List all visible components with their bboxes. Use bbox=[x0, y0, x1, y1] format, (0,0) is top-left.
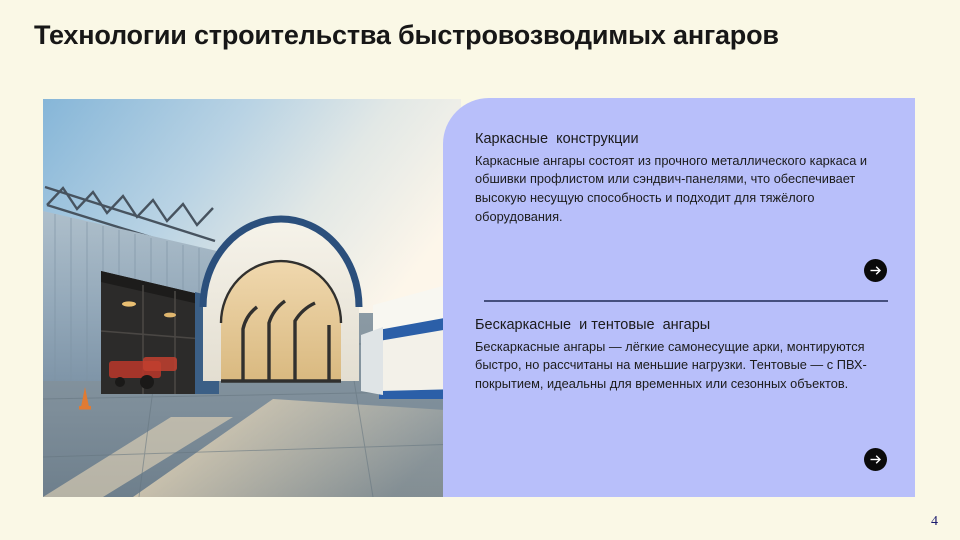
section-divider bbox=[484, 300, 888, 302]
block-body: Бескаркасные ангары — лёгкие самонесущие… bbox=[475, 338, 887, 394]
arrow-right-icon-2[interactable] bbox=[864, 448, 887, 471]
arrow-right-icon bbox=[869, 453, 882, 466]
block-body: Каркасные ангары состоят из прочного мет… bbox=[475, 152, 887, 227]
block-heading: Каркасные конструкции bbox=[475, 130, 887, 150]
slide: Технологии строительства быстровозводимы… bbox=[0, 0, 960, 540]
info-block-frame-structures: Каркасные конструкции Каркасные ангары с… bbox=[475, 130, 887, 226]
block-heading: Бескаркасные и тентовые ангары bbox=[475, 316, 887, 336]
hangar-photo bbox=[43, 99, 461, 497]
info-block-frameless-structures: Бескаркасные и тентовые ангары Бескаркас… bbox=[475, 316, 887, 394]
info-panel: Каркасные конструкции Каркасные ангары с… bbox=[443, 98, 915, 497]
page-number: 4 bbox=[931, 514, 938, 530]
arrow-right-icon bbox=[869, 264, 882, 277]
page-title: Технологии строительства быстровозводимы… bbox=[34, 18, 834, 54]
hangar-illustration bbox=[43, 99, 461, 497]
arrow-right-icon-1[interactable] bbox=[864, 259, 887, 282]
